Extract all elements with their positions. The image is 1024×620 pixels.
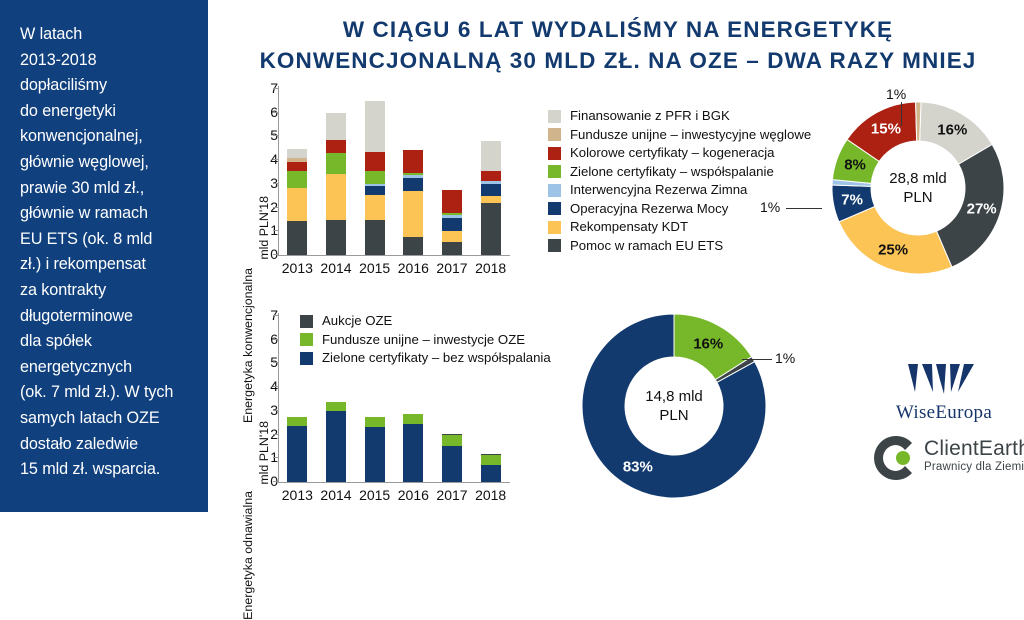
bar-segment <box>365 171 385 185</box>
legend-label: Zielone certyfikaty – współspalanie <box>570 165 774 179</box>
bar-segment <box>326 113 346 141</box>
bar-segment <box>287 158 307 162</box>
donut-center-label-konwencjonalna: 28,8 mld PLN <box>889 169 947 207</box>
donut-slice[interactable] <box>839 207 952 274</box>
chart-konwencjonalna-bar: Energetyka konwencjonalna mld PLN'18 012… <box>228 78 528 278</box>
x-tick-label-2018: 2018 <box>475 260 506 276</box>
page-title: W CIĄGU 6 LAT WYDALIŚMY NA ENERGETYKĘ KO… <box>212 14 1024 76</box>
bar-2015 <box>365 85 385 255</box>
donut-odnawialna: 14,8 mld PLN 16%83% <box>578 310 770 502</box>
donut-slice-label: 7% <box>841 192 863 209</box>
clientearth-mark-icon <box>872 434 920 482</box>
legend-swatch-icon <box>548 165 561 178</box>
y-tick-mark <box>273 207 279 208</box>
callout-bottom-leader <box>742 359 772 360</box>
bar-segment <box>403 178 423 190</box>
callout-left-1pct: 1% <box>760 199 780 215</box>
x-tick-label-2018: 2018 <box>475 487 506 503</box>
bar-2017 <box>442 85 462 255</box>
callout-left-leader <box>786 208 822 209</box>
y-tick-mark <box>273 112 279 113</box>
y-tick-label: 5 <box>238 354 278 370</box>
bar-segment <box>365 195 385 219</box>
legend-item[interactable]: Fundusze unijne – inwestycyjne węglowe <box>548 127 811 143</box>
bar-segment <box>442 446 462 482</box>
y-tick-mark <box>273 135 279 136</box>
legend-item[interactable]: Finansowanie z PFR i BGK <box>548 108 811 124</box>
donut-slice-label: 25% <box>878 242 908 259</box>
legend-swatch-icon <box>548 239 561 252</box>
legend-item[interactable]: Rekompensaty KDT <box>548 219 811 235</box>
y-tick-label: 0 <box>238 246 278 262</box>
legend-swatch-icon <box>548 184 561 197</box>
callout-bottom-1pct: 1% <box>775 350 795 366</box>
y-tick-mark <box>273 254 279 255</box>
bar-segment <box>287 188 307 221</box>
y-tick-mark <box>273 315 279 316</box>
legend-label: Rekompensaty KDT <box>570 220 688 234</box>
callout-top-1pct: 1% <box>886 86 906 102</box>
bar-segment <box>365 220 385 255</box>
y-tick-mark <box>273 481 279 482</box>
bar-segment <box>365 101 385 152</box>
bar-segment <box>403 175 423 178</box>
y-tick-label: 6 <box>238 331 278 347</box>
bar-segment <box>442 213 462 214</box>
legend-label: Aukcje OZE <box>322 314 392 328</box>
donut-slice[interactable] <box>916 102 921 141</box>
bar-segment <box>326 411 346 482</box>
bar-segment <box>481 465 501 482</box>
plot-area-konwencjonalna: 01234567 201320142015201620172018 <box>278 86 518 256</box>
legend-konwencjonalna: Finansowanie z PFR i BGKFundusze unijne … <box>548 108 811 256</box>
y-axis-title-odnawialna: Energetyka odnawialna <box>241 491 255 620</box>
legend-swatch-icon <box>548 147 561 160</box>
bar-segment <box>287 221 307 255</box>
legend-label: Zielone certyfikaty – bez współspalania <box>322 351 551 365</box>
sidebar-panel: W latach 2013-2018 dopłaciliśmy do energ… <box>0 0 208 512</box>
legend-label: Fundusze unijne – inwestycyjne węglowe <box>570 128 811 142</box>
legend-label: Operacyjna Rezerwa Mocy <box>570 202 728 216</box>
legend-swatch-icon <box>548 128 561 141</box>
bar-segment <box>481 455 501 465</box>
y-tick-mark <box>273 88 279 89</box>
bar-segment <box>287 162 307 171</box>
donut-slice-label: 8% <box>844 157 866 174</box>
y-tick-mark <box>273 339 279 340</box>
legend-item[interactable]: Aukcje OZE <box>300 313 551 329</box>
bar-segment <box>326 153 346 173</box>
legend-swatch-icon <box>548 221 561 234</box>
y-tick-mark <box>273 230 279 231</box>
legend-label: Finansowanie z PFR i BGK <box>570 109 730 123</box>
bar-segment <box>403 237 423 255</box>
bar-segment <box>287 171 307 188</box>
bar-segment <box>481 203 501 255</box>
bar-segment <box>365 427 385 482</box>
bar-segment <box>326 174 346 220</box>
y-tick-label: 3 <box>238 175 278 191</box>
y-tick-mark <box>273 410 279 411</box>
bar-segment <box>442 215 462 219</box>
bar-segment <box>403 424 423 482</box>
bar-segment <box>481 196 501 203</box>
clientearth-wordmark: ClientEarth <box>924 438 1024 460</box>
x-tick-label-2016: 2016 <box>398 487 429 503</box>
y-tick-label: 4 <box>238 378 278 394</box>
bar-2018 <box>481 85 501 255</box>
bar-segment <box>365 152 385 170</box>
bar-2016 <box>403 85 423 255</box>
y-tick-label: 1 <box>238 222 278 238</box>
x-tick-label-2015: 2015 <box>359 487 390 503</box>
legend-label: Pomoc w ramach EU ETS <box>570 239 723 253</box>
legend-label: Kolorowe certyfikaty – kogeneracja <box>570 146 775 160</box>
legend-item[interactable]: Interwencyjna Rezerwa Zimna <box>548 182 811 198</box>
x-axis-line-2 <box>278 482 510 483</box>
bar-segment <box>287 149 307 157</box>
callout-top-leader <box>901 102 902 126</box>
y-tick-label: 4 <box>238 151 278 167</box>
donut-konwencjonalna: 28,8 mld PLN 16%27%25%7%8%15% <box>828 98 1008 278</box>
x-tick-label-2015: 2015 <box>359 260 390 276</box>
bar-segment <box>287 426 307 482</box>
bar-segment <box>403 150 423 173</box>
bar-segment <box>442 190 462 213</box>
y-tick-label: 7 <box>238 307 278 323</box>
x-tick-label-2013: 2013 <box>282 487 313 503</box>
x-tick-label-2014: 2014 <box>320 487 351 503</box>
donut-slice-label: 27% <box>967 200 997 217</box>
bar-segment <box>481 454 501 455</box>
y-tick-mark <box>273 362 279 363</box>
bar-segment <box>403 414 423 424</box>
legend-swatch-icon <box>548 202 561 215</box>
bar-segment <box>365 186 385 196</box>
clientearth-text-block: ClientEarth Prawnicy dla Ziemi <box>924 438 1024 474</box>
x-tick-label-2017: 2017 <box>436 487 467 503</box>
clientearth-tagline: Prawnicy dla Ziemi <box>924 460 1024 474</box>
y-tick-mark <box>273 386 279 387</box>
legend-item[interactable]: Kolorowe certyfikaty – kogeneracja <box>548 145 811 161</box>
bar-2013 <box>287 85 307 255</box>
bar-segment <box>481 171 501 181</box>
bar-segment <box>287 417 307 426</box>
legend-swatch-icon <box>548 110 561 123</box>
legend-item[interactable]: Pomoc w ramach EU ETS <box>548 238 811 254</box>
y-tick-label: 6 <box>238 104 278 120</box>
bar-2014 <box>326 85 346 255</box>
y-tick-mark <box>273 434 279 435</box>
bar-segment <box>442 242 462 255</box>
y-tick-label: 3 <box>238 402 278 418</box>
donut-slice-label: 83% <box>623 459 653 476</box>
logo-clientearth: ClientEarth Prawnicy dla Ziemi <box>872 432 1018 490</box>
x-tick-label-2017: 2017 <box>436 260 467 276</box>
x-tick-label-2014: 2014 <box>320 260 351 276</box>
wiseeuropa-wordmark: WiseEuropa <box>878 402 1010 424</box>
bar-segment <box>442 435 462 446</box>
y-tick-label: 2 <box>238 199 278 215</box>
donut-slice-label: 16% <box>937 122 967 139</box>
legend-swatch-icon <box>300 333 313 346</box>
donut-slice-label: 15% <box>871 121 901 138</box>
bar-segment <box>442 218 462 231</box>
legend-odnawialna: Aukcje OZEFundusze unijne – inwestycje O… <box>300 313 551 369</box>
legend-item[interactable]: Zielone certyfikaty – współspalanie <box>548 164 811 180</box>
legend-label: Interwencyjna Rezerwa Zimna <box>570 183 747 197</box>
y-tick-label: 0 <box>238 473 278 489</box>
y-tick-mark <box>273 457 279 458</box>
logo-wiseeuropa: WiseEuropa <box>878 362 1010 420</box>
infographic-root: W latach 2013-2018 dopłaciliśmy do energ… <box>0 0 1024 512</box>
bar-segment <box>365 184 385 185</box>
bar-segment <box>481 141 501 171</box>
sidebar-summary-text: W latach 2013-2018 dopłaciliśmy do energ… <box>20 22 192 483</box>
y-tick-mark <box>273 183 279 184</box>
legend-swatch-icon <box>300 352 313 365</box>
bar-segment <box>403 173 423 175</box>
legend-label: Fundusze unijne – inwestycje OZE <box>322 333 525 347</box>
legend-swatch-icon <box>300 315 313 328</box>
bar-segment <box>326 220 346 255</box>
y-tick-mark <box>273 159 279 160</box>
y-tick-label: 1 <box>238 449 278 465</box>
donut-center-label-odnawialna: 14,8 mld PLN <box>645 387 703 425</box>
bar-segment <box>481 184 501 196</box>
legend-item[interactable]: Fundusze unijne – inwestycje OZE <box>300 332 551 348</box>
y-tick-label: 2 <box>238 426 278 442</box>
donut-slice-label: 16% <box>693 335 723 352</box>
wiseeuropa-mark-icon <box>878 362 1010 396</box>
bar-segment <box>442 231 462 242</box>
x-tick-label-2013: 2013 <box>282 260 313 276</box>
bar-segment <box>326 140 346 153</box>
legend-item[interactable]: Zielone certyfikaty – bez współspalania <box>300 350 551 366</box>
bar-segment <box>481 181 501 184</box>
bar-segment <box>442 434 462 435</box>
x-axis-line <box>278 255 510 256</box>
bar-segment <box>365 417 385 427</box>
y-tick-label: 5 <box>238 127 278 143</box>
x-tick-label-2016: 2016 <box>398 260 429 276</box>
bar-segment <box>403 191 423 237</box>
y-tick-label: 7 <box>238 80 278 96</box>
bar-segment <box>326 402 346 411</box>
